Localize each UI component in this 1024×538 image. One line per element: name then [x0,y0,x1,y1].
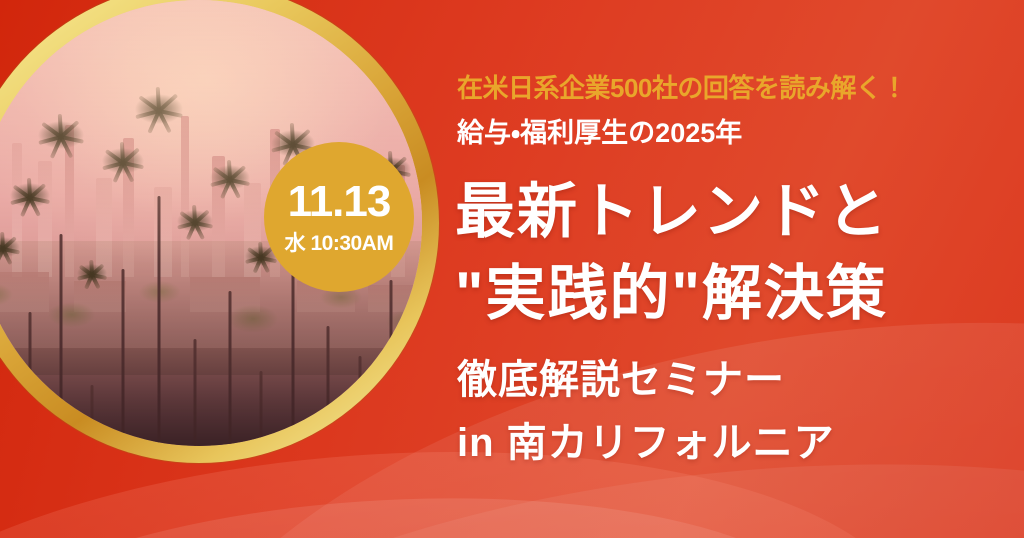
headline-line-2: "実践的"解決策 [455,245,888,332]
headline-line-1: 最新トレンドと [455,163,889,250]
date-badge-day-time: 水 10:30AM [285,233,394,254]
subheadline-line-1: 徹底解説セミナー [457,347,785,405]
subheadline-line-2: in 南カリフォルニア [457,410,835,468]
date-badge: 11.13 水 10:30AM [264,142,414,292]
kicker-text: 給与・福利厚生の2025年 [457,111,742,150]
seminar-promo-banner: 11.13 水 10:30AM 在米日系企業500社の回答を読み解く！ 給与・福… [0,0,1024,538]
eyebrow-text: 在米日系企業500社の回答を読み解く！ [457,68,907,105]
copy-block: 在米日系企業500社の回答を読み解く！ 給与・福利厚生の2025年 最新トレンド… [455,0,1015,538]
date-badge-date: 11.13 [288,180,391,224]
